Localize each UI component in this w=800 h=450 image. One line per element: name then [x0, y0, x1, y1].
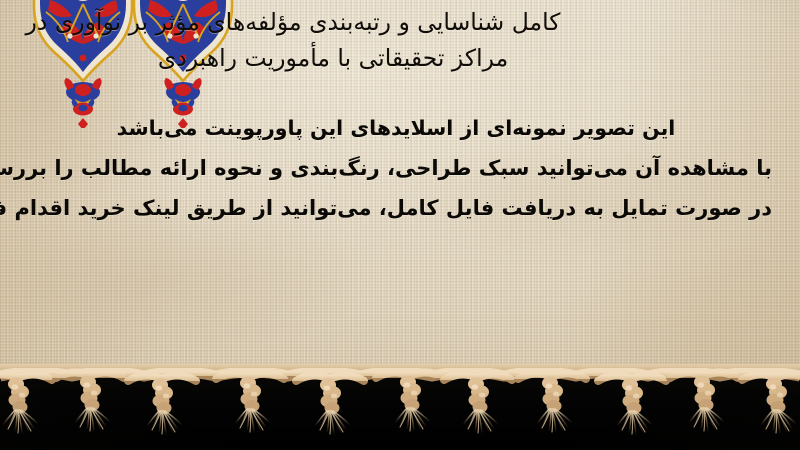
fringe-tassel-group — [0, 368, 800, 450]
title-line-2: مراکز تحقیقاتی با مأموریت راهبردی — [14, 40, 782, 76]
body-line-2: با مشاهده آن می‌توانید سبک طراحی، رنگ‌بن… — [22, 148, 778, 188]
body-line-3: در صورت تمایل به دریافت فایل کامل، می‌تو… — [22, 188, 778, 228]
body-line-1: این تصویر نمونه‌ای از اسلایدهای این پاور… — [22, 108, 778, 148]
slide-body: این تصویر نمونه‌ای از اسلایدهای این پاور… — [0, 108, 800, 228]
fringe-tassels-icon — [0, 368, 800, 450]
slide-title: کامل شناسایی و رتبه‌بندی مؤلفه‌های مؤثر … — [0, 4, 800, 76]
slide-canvas: کامل شناسایی و رتبه‌بندی مؤلفه‌های مؤثر … — [0, 0, 800, 450]
title-line-1: کامل شناسایی و رتبه‌بندی مؤلفه‌های مؤثر … — [14, 4, 782, 40]
